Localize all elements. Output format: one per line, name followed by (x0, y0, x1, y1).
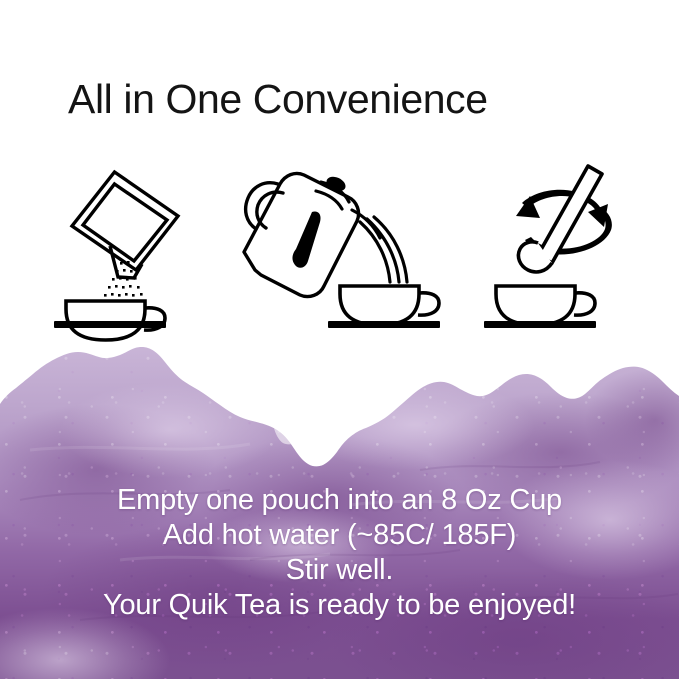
page-title: All in One Convenience (68, 76, 488, 123)
cup-with-saucer-icon (496, 286, 595, 325)
cup-with-saucer-icon (66, 301, 165, 340)
step-stir (478, 160, 648, 340)
instruction-line-3: Stir well. (0, 553, 679, 588)
saucer (484, 321, 596, 328)
instruction-line-1: Empty one pouch into an 8 Oz Cup (0, 483, 679, 518)
instruction-line-4: Your Quik Tea is ready to be enjoyed! (0, 588, 679, 623)
step-pour-sachet (48, 160, 218, 340)
step-pour-water (228, 160, 433, 340)
kettle-pouring-into-cup-icon (244, 173, 407, 296)
instruction-line-2: Add hot water (~85C/ 185F) (0, 518, 679, 553)
steps-icon-row (0, 160, 679, 340)
instructions-block: Empty one pouch into an 8 Oz Cup Add hot… (0, 483, 679, 623)
poster-canvas: All in One Convenience (0, 0, 679, 679)
sachet-pouring-into-cup-icon (72, 172, 178, 278)
saucer (54, 321, 166, 328)
saucer (328, 321, 440, 328)
spoon-icon (518, 166, 602, 272)
cup-with-saucer-icon (340, 286, 439, 325)
